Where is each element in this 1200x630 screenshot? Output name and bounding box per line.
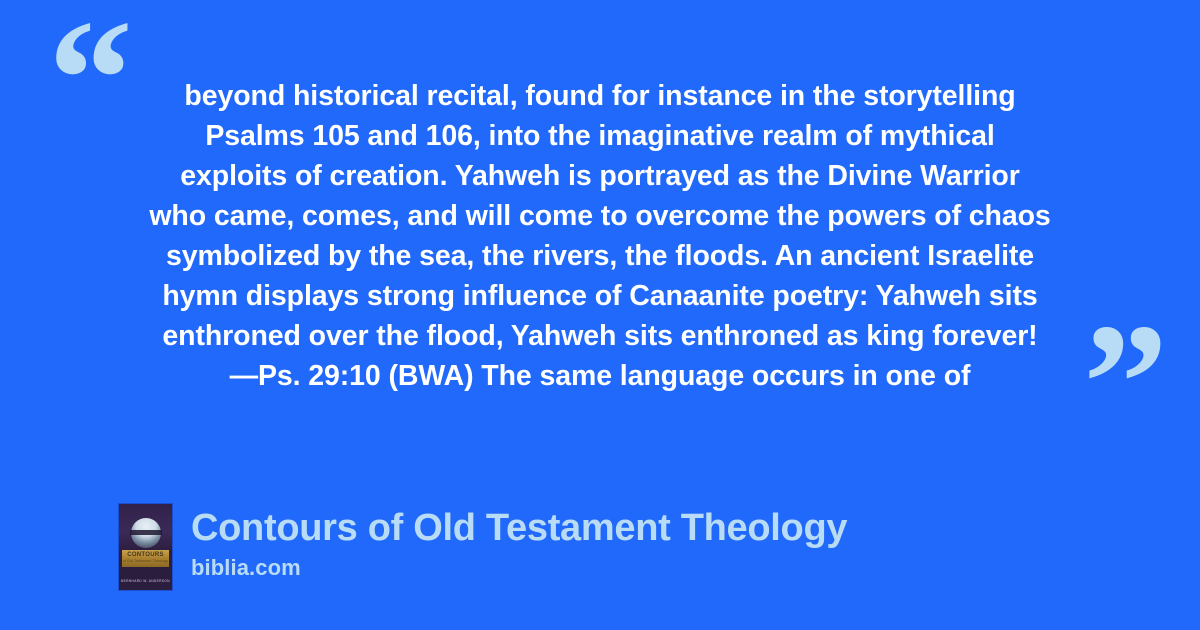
book-cover-author: BERNHARD W. ANDERSON (119, 579, 172, 583)
quote-text: beyond historical recital, found for ins… (100, 76, 1100, 396)
quote-block: beyond historical recital, found for ins… (100, 76, 1100, 396)
source-site[interactable]: biblia.com (191, 555, 847, 581)
source-title[interactable]: Contours of Old Testament Theology (191, 505, 847, 551)
quote-card: “ beyond historical recital, found for i… (0, 0, 1200, 630)
book-cover-thumbnail[interactable]: CONTOURS of Old Testament Theology BERNH… (118, 503, 173, 591)
attribution-text: Contours of Old Testament Theology bibli… (191, 503, 847, 581)
book-cover-band-subtitle: of Old Testament Theology (123, 559, 168, 564)
close-quote-icon: ” (1083, 298, 1166, 468)
attribution[interactable]: CONTOURS of Old Testament Theology BERNH… (118, 503, 847, 591)
book-cover-title-band: CONTOURS of Old Testament Theology (122, 550, 169, 567)
book-cover-dome-band (130, 530, 162, 535)
book-cover-band-title: CONTOURS (127, 552, 164, 559)
